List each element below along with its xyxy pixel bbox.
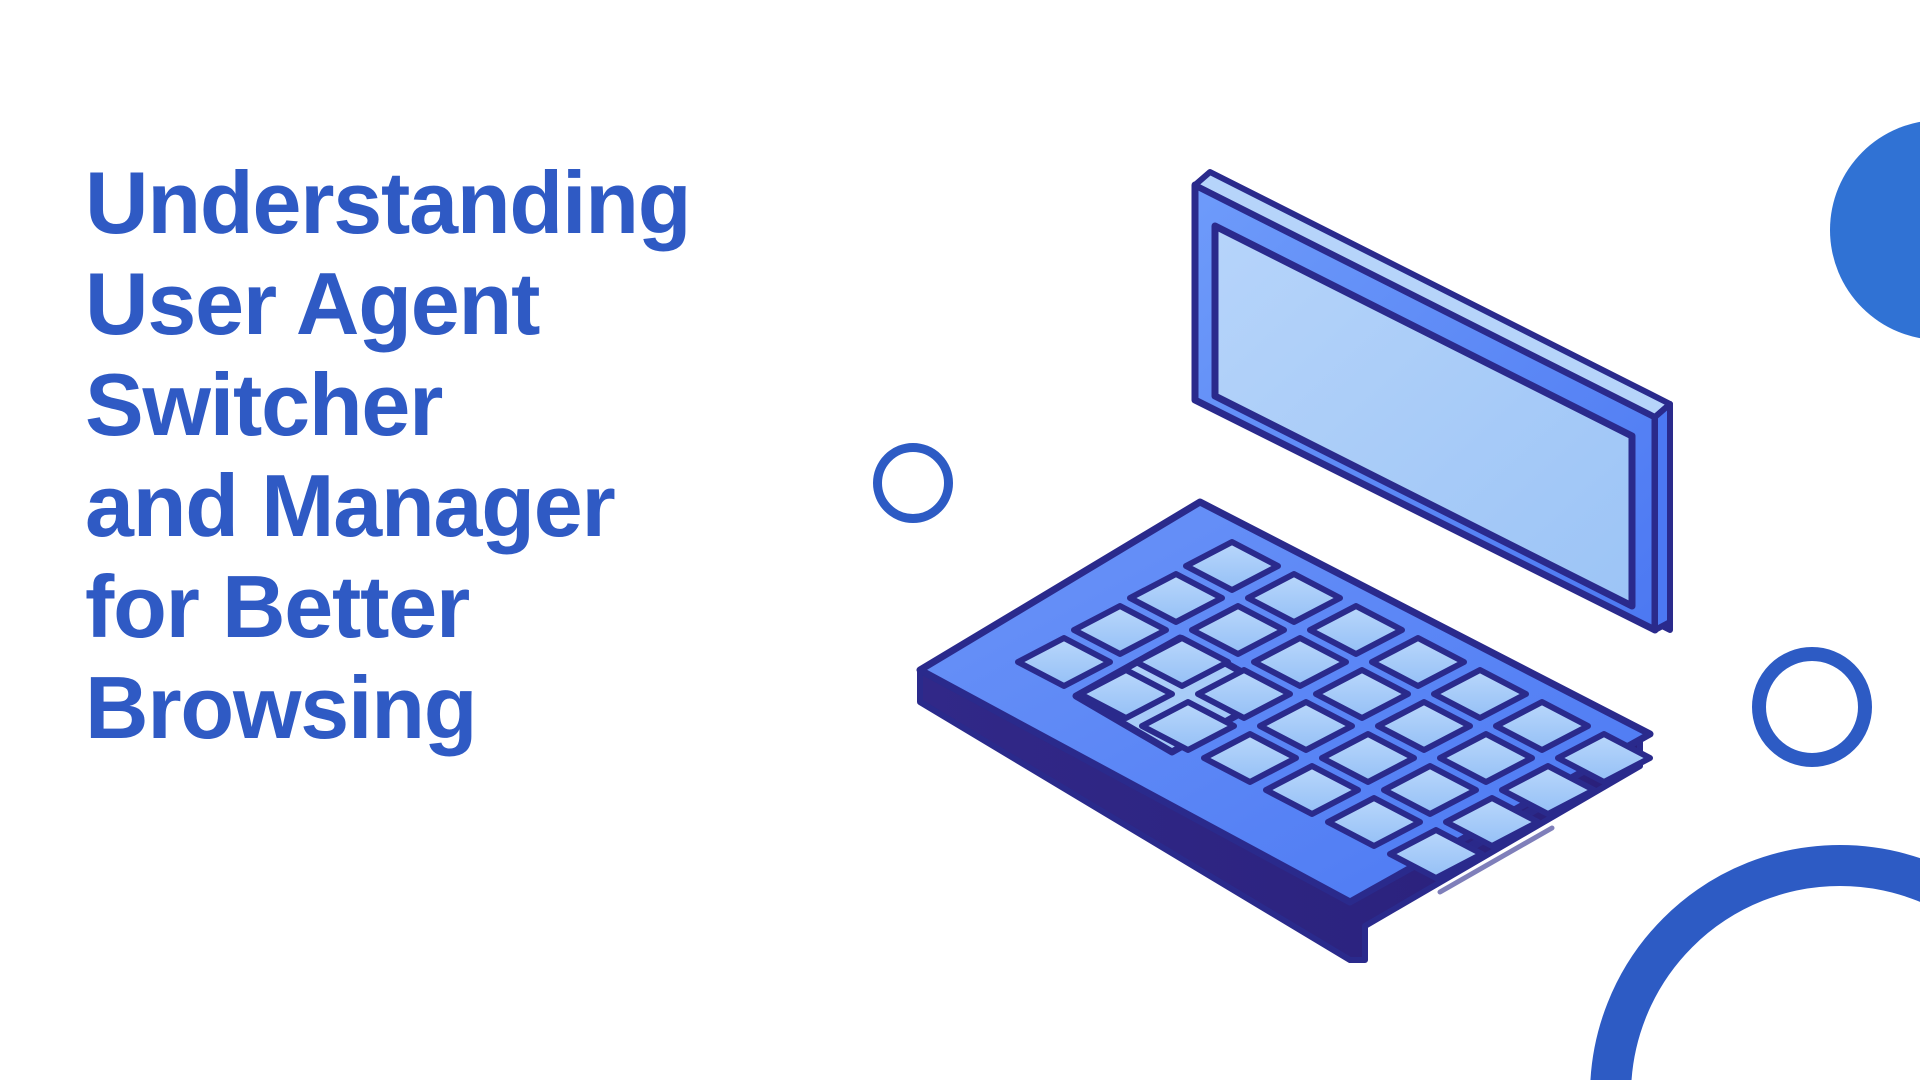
laptop-illustration bbox=[880, 130, 1700, 990]
medium-circle-outline-decoration bbox=[1752, 647, 1872, 767]
banner-canvas: Understanding User Agent Switcher and Ma… bbox=[0, 0, 1920, 1080]
page-title: Understanding User Agent Switcher and Ma… bbox=[85, 152, 805, 758]
filled-circle-decoration bbox=[1830, 120, 1920, 340]
